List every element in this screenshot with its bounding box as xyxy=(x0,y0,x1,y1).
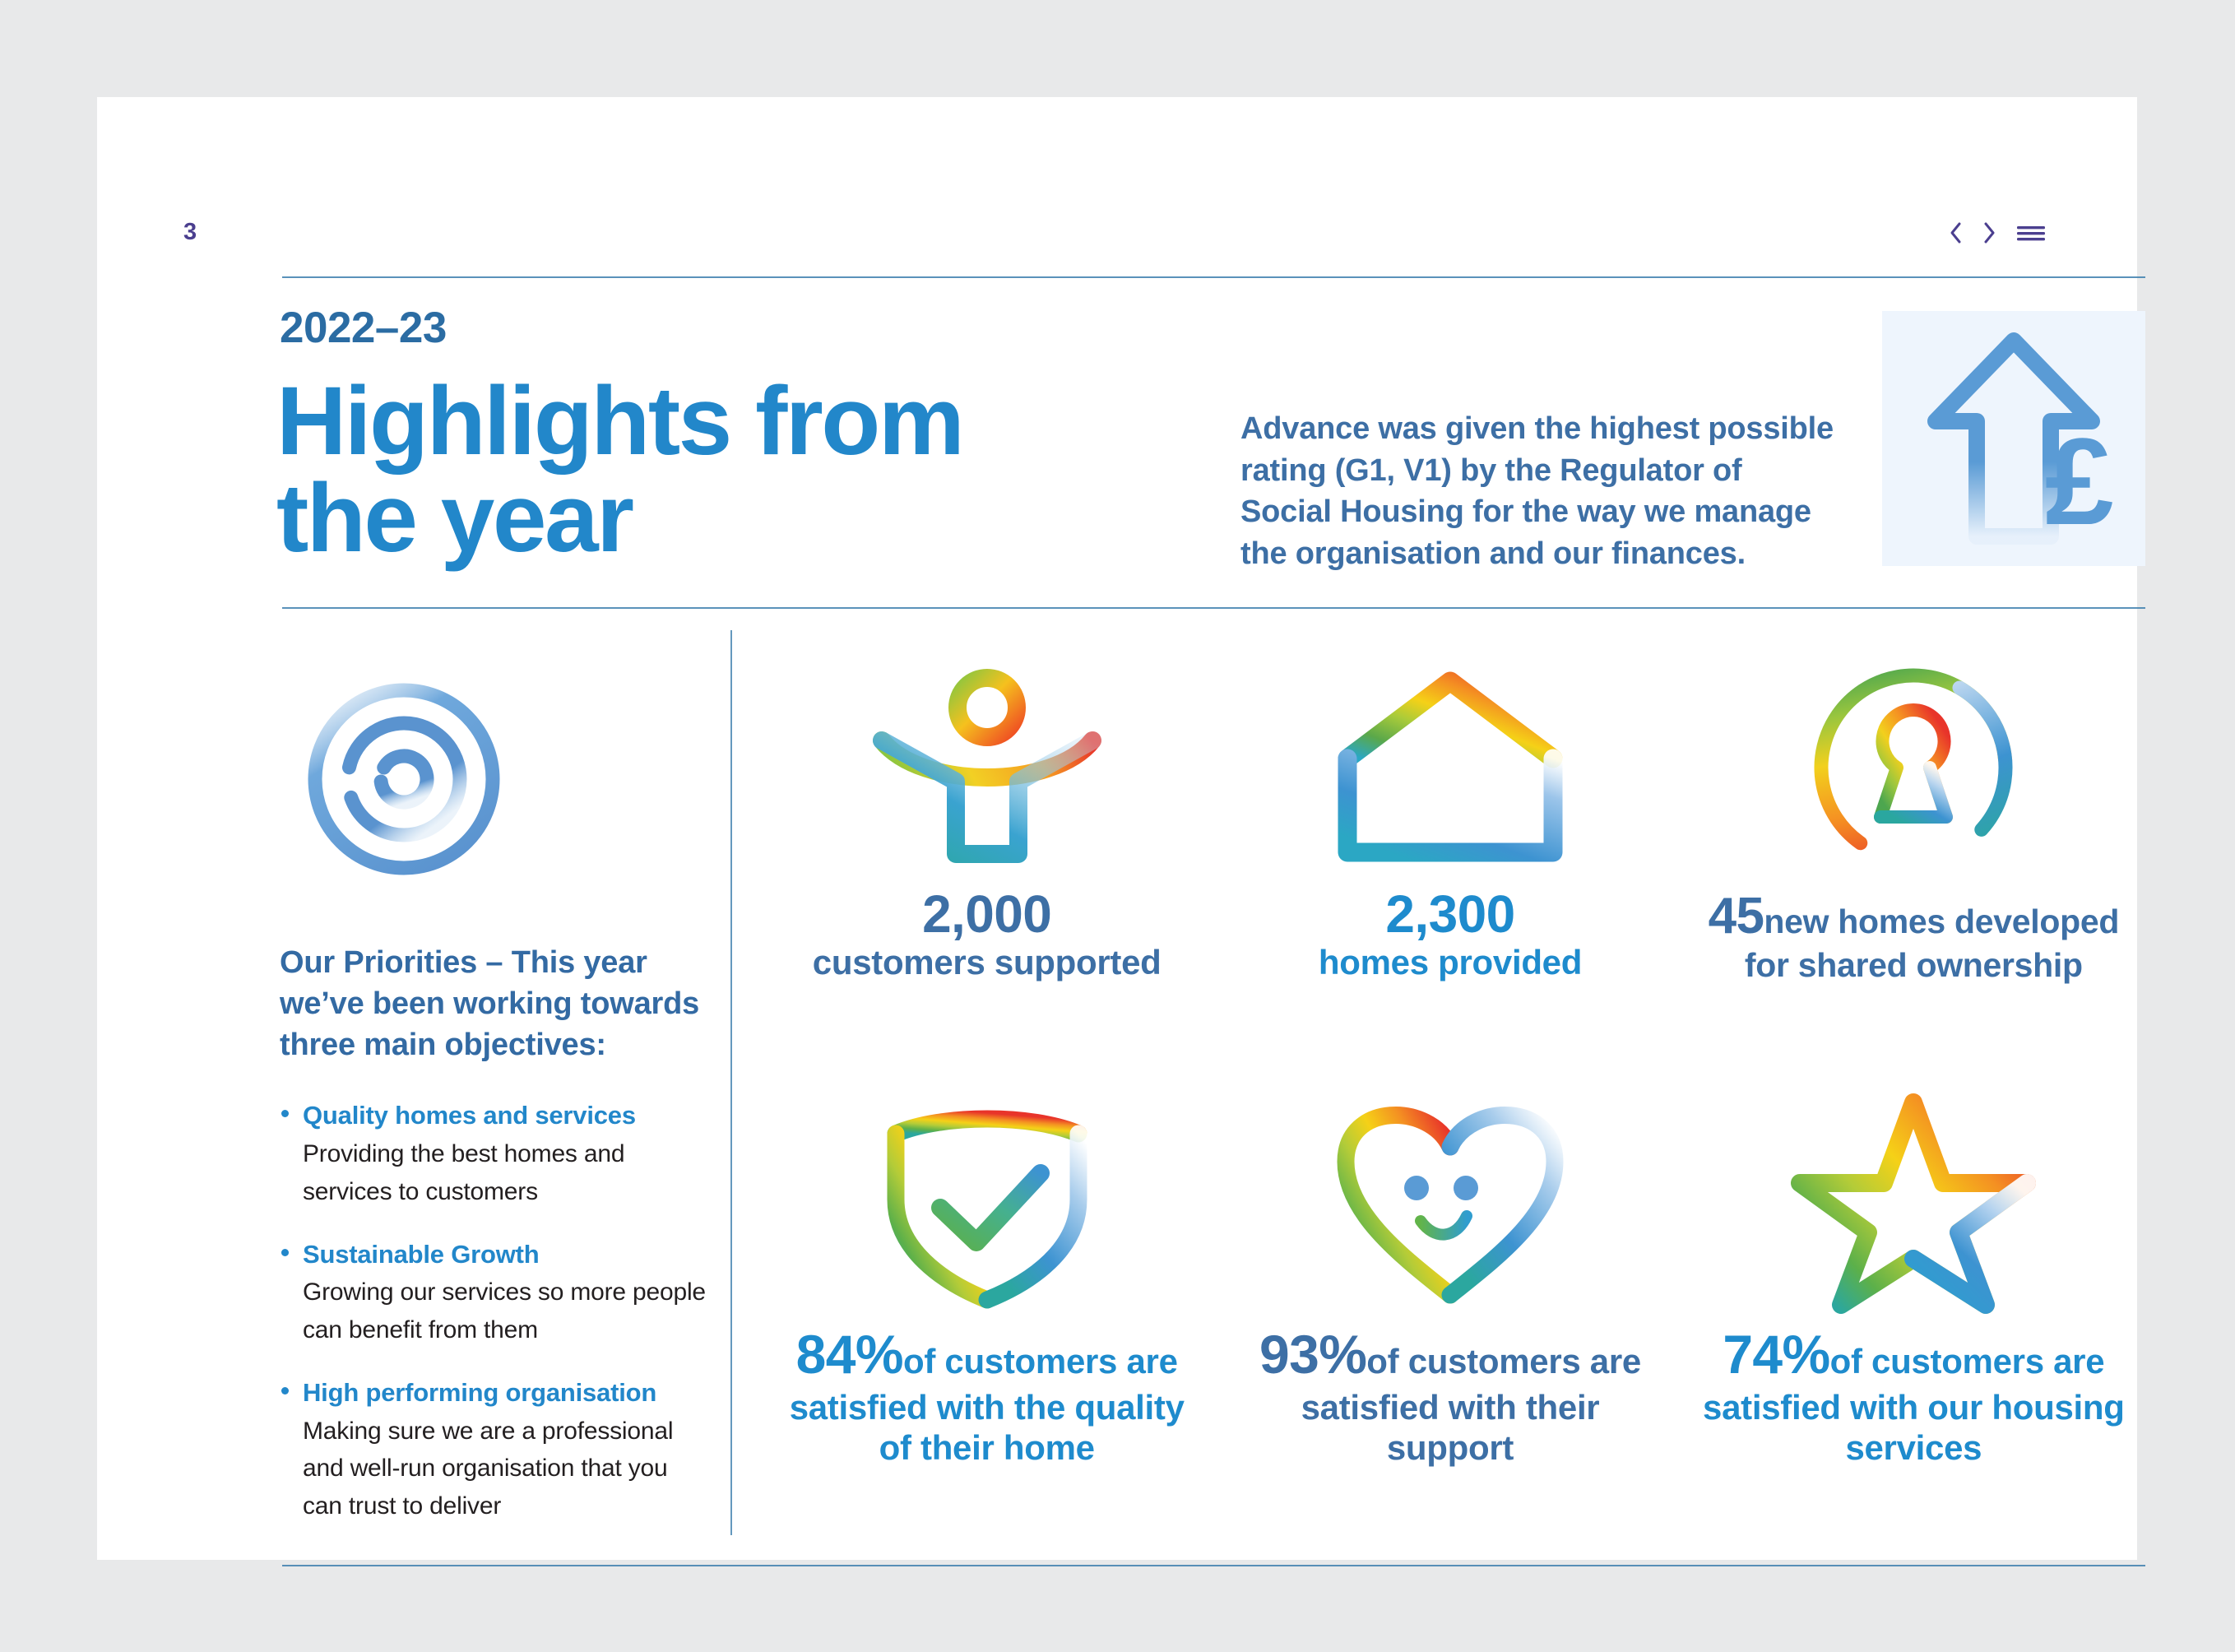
stat-card: 93%of customers are satisfied with their… xyxy=(1218,1076,1681,1487)
statistics-grid: 2,000 customers supported xyxy=(755,648,2145,1487)
stat-value: 45 xyxy=(1709,888,1764,944)
priority-title: Sustainable Growth xyxy=(303,1236,707,1274)
target-bullseye-icon xyxy=(285,673,707,889)
intro-paragraph: Advance was given the highest possible r… xyxy=(1240,408,1841,574)
up-arrow-pound-icon: £ xyxy=(1882,323,2145,557)
stat-value: 2,300 xyxy=(1319,887,1582,942)
stat-card: 74%of customers are satisfied with our h… xyxy=(1682,1076,2145,1487)
divider-vertical xyxy=(730,630,732,1535)
stat-card: 84%of customers are satisfied with the q… xyxy=(755,1076,1218,1487)
year-label: 2022–23 xyxy=(280,303,447,353)
heart-smile-icon xyxy=(1331,1076,1570,1323)
divider-middle xyxy=(282,607,2145,609)
stat-caption: 84%of customers are satisfied with the q… xyxy=(772,1323,1202,1469)
page-title-line-1: Highlights from xyxy=(276,373,1222,470)
priority-description: Making sure we are a professional and we… xyxy=(303,1413,707,1526)
chevron-right-icon[interactable] xyxy=(1981,220,1999,245)
stat-caption: 74%of customers are satisfied with our h… xyxy=(1699,1323,2129,1469)
page-title-line-2: the year xyxy=(276,470,1222,567)
house-outline-icon xyxy=(1331,648,1570,887)
stat-caption: 2,000 customers supported xyxy=(813,887,1162,984)
stat-value: 2,000 xyxy=(813,887,1162,942)
priorities-list: Quality homes and services Providing the… xyxy=(280,1097,707,1525)
list-item: Quality homes and services Providing the… xyxy=(280,1097,707,1210)
document-page: 3 2022–23 Highlights from the year Advan… xyxy=(97,97,2137,1560)
stat-caption: 45new homes developed for shared ownersh… xyxy=(1699,887,2129,985)
priority-title: High performing organisation xyxy=(303,1374,707,1413)
page-number: 3 xyxy=(183,219,197,246)
stat-label: customers supported xyxy=(813,942,1162,983)
stat-label: new homes developed for shared ownership xyxy=(1745,903,2119,984)
priority-description: Providing the best homes and services to… xyxy=(303,1135,707,1211)
regulator-rating-badge: £ xyxy=(1882,311,2145,566)
stat-card: 2,300 homes provided xyxy=(1218,648,1681,1060)
stat-card: 2,000 customers supported xyxy=(755,648,1218,1060)
priority-description: Growing our services so more people can … xyxy=(303,1274,707,1349)
stat-caption: 2,300 homes provided xyxy=(1319,887,1582,984)
divider-bottom xyxy=(282,1565,2145,1566)
stat-card: 45new homes developed for shared ownersh… xyxy=(1682,648,2145,1060)
keyhole-circle-icon xyxy=(1802,648,2024,887)
page-title: Highlights from the year xyxy=(276,373,1222,567)
divider-top xyxy=(282,276,2145,278)
shield-check-icon xyxy=(876,1076,1098,1323)
list-item: Sustainable Growth Growing our services … xyxy=(280,1236,707,1349)
star-outline-icon xyxy=(1790,1076,2037,1323)
priorities-heading: Our Priorities – This year we’ve been wo… xyxy=(280,942,707,1065)
stat-value: 93% xyxy=(1259,1324,1366,1385)
stat-value: 74% xyxy=(1723,1324,1829,1385)
hamburger-menu-icon[interactable] xyxy=(2015,220,2047,245)
list-item: High performing organisation Making sure… xyxy=(280,1374,707,1525)
document-nav-controls[interactable] xyxy=(1946,220,2047,245)
chevron-left-icon[interactable] xyxy=(1946,220,1964,245)
svg-text:£: £ xyxy=(2045,412,2113,550)
stat-value: 84% xyxy=(796,1324,903,1385)
person-arms-open-icon xyxy=(864,648,1111,887)
stat-label: homes provided xyxy=(1319,942,1582,983)
priorities-column: Our Priorities – This year we’ve been wo… xyxy=(280,673,707,1550)
priority-title: Quality homes and services xyxy=(303,1097,707,1135)
stat-caption: 93%of customers are satisfied with their… xyxy=(1235,1323,1665,1469)
